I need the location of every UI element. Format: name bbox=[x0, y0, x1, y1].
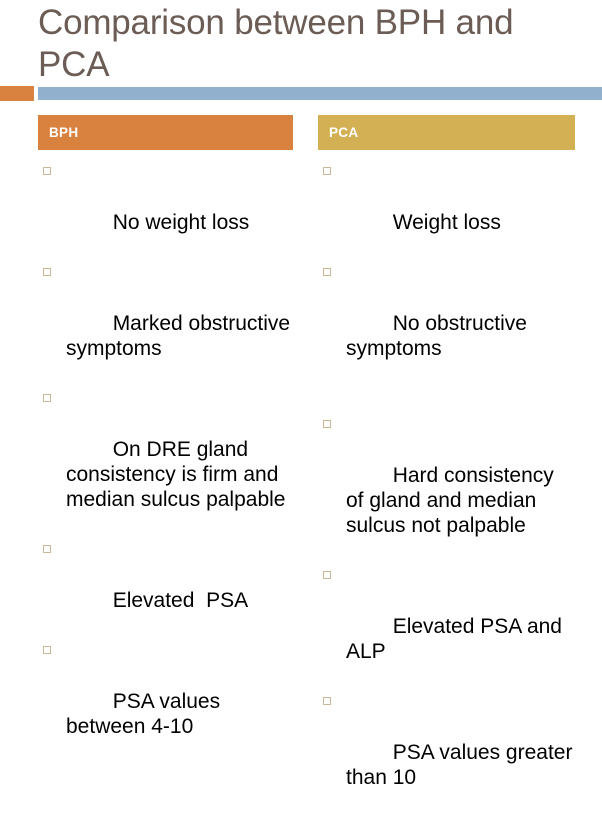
bullet-square-icon bbox=[43, 394, 51, 402]
list-item-text: PSA values between 4-10 bbox=[66, 690, 226, 738]
list-item-text: No weight loss bbox=[113, 211, 250, 234]
list-item-text: Hard consistency of gland and median sul… bbox=[346, 464, 560, 537]
bullet-list-pca: Weight loss No obstructive symptoms Hard… bbox=[318, 160, 575, 815]
bullet-square-icon bbox=[323, 697, 331, 705]
list-item: No weight loss bbox=[38, 160, 293, 260]
list-item: Hard consistency of gland and median sul… bbox=[318, 413, 575, 563]
list-item-text: PSA values greater than 10 bbox=[346, 741, 578, 789]
list-item: No obstructive symptoms bbox=[318, 261, 575, 386]
accent-bar-orange bbox=[0, 86, 34, 101]
slide: Comparison between BPH and PCA BPH No we… bbox=[0, 0, 602, 452]
bullet-square-icon bbox=[323, 167, 331, 175]
page-title: Comparison between BPH and PCA bbox=[38, 2, 583, 86]
bullet-square-icon bbox=[43, 545, 51, 553]
list-item: Marked obstructive symptoms bbox=[38, 261, 293, 386]
list-item-text: Marked obstructive symptoms bbox=[66, 312, 296, 360]
list-item-text: Elevated PSA and ALP bbox=[346, 615, 567, 663]
bullet-square-icon bbox=[323, 268, 331, 276]
bullet-list-bph: No weight loss Marked obstructive sympto… bbox=[38, 160, 293, 764]
divider-bar-blue bbox=[38, 87, 602, 100]
column-header-bph: BPH bbox=[38, 115, 293, 150]
list-item: Elevated PSA bbox=[38, 538, 293, 638]
bullet-square-icon bbox=[43, 268, 51, 276]
list-item-text: Weight loss bbox=[393, 211, 501, 234]
column-header-bph-label: BPH bbox=[49, 125, 78, 140]
list-item-text: On DRE gland consistency is firm and med… bbox=[66, 438, 285, 511]
bullet-square-icon bbox=[43, 167, 51, 175]
list-item: Elevated PSA and ALP bbox=[318, 564, 575, 689]
column-header-pca: PCA bbox=[318, 115, 575, 150]
list-item: PSA values greater than 10 bbox=[318, 690, 575, 815]
list-item-text: Elevated PSA bbox=[113, 589, 248, 612]
bullet-square-icon bbox=[43, 646, 51, 654]
column-header-pca-label: PCA bbox=[329, 125, 358, 140]
list-item: Weight loss bbox=[318, 160, 575, 260]
list-item: PSA values between 4-10 bbox=[38, 639, 293, 764]
column-pca: PCA Weight loss No obstructive symptoms … bbox=[318, 115, 575, 816]
column-bph: BPH No weight loss Marked obstructive sy… bbox=[38, 115, 293, 765]
list-item: On DRE gland consistency is firm and med… bbox=[38, 387, 293, 537]
list-item-text: No obstructive symptoms bbox=[346, 312, 533, 360]
bullet-square-icon bbox=[323, 420, 331, 428]
bullet-square-icon bbox=[323, 571, 331, 579]
list-item-spacer bbox=[318, 387, 575, 412]
